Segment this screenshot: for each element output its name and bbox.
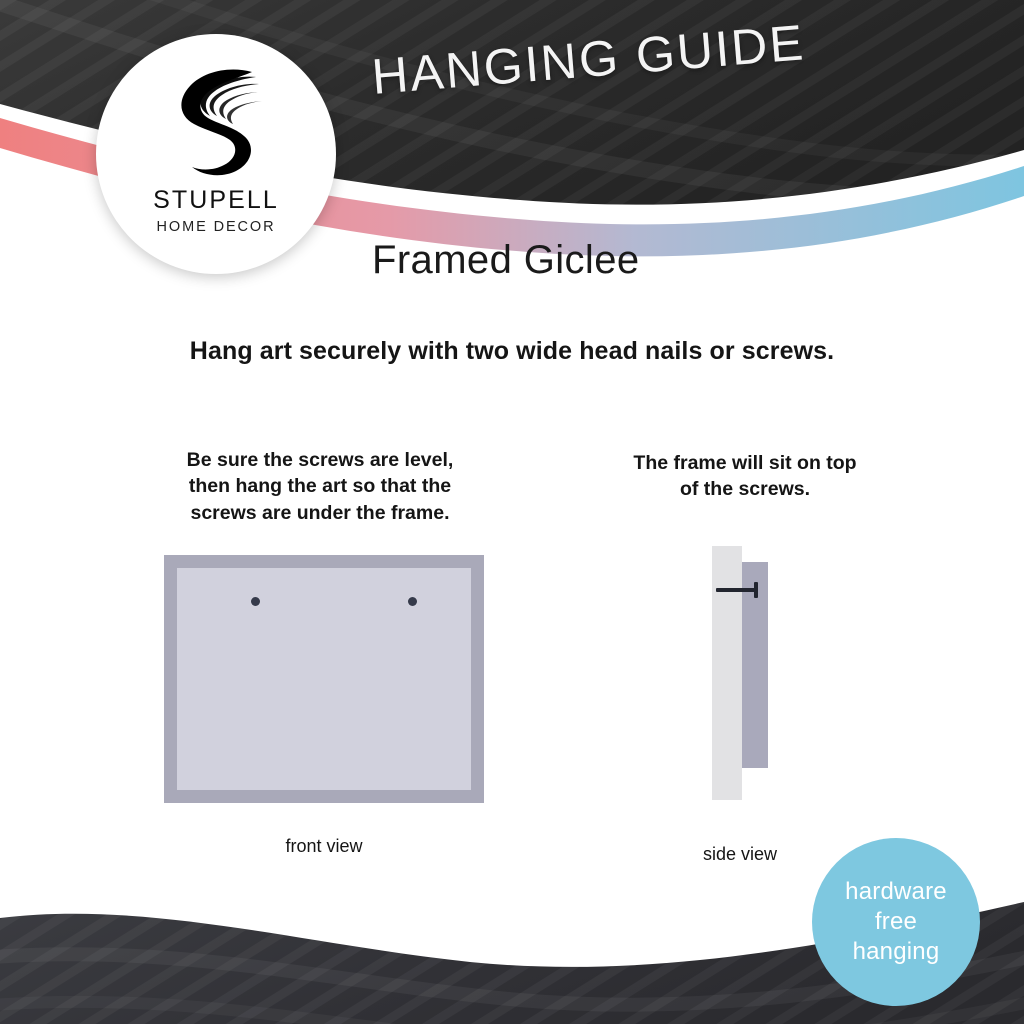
front-view-frame-diagram: [164, 555, 484, 803]
side-view-frame-diagram: [712, 546, 792, 804]
side-view-label: side view: [655, 844, 825, 865]
logo-wordmark: STUPELL: [153, 188, 279, 213]
stupell-swirl-logo-icon: [160, 60, 272, 182]
page-title: HANGING GUIDE: [370, 6, 893, 106]
front-view-mat-panel: [177, 568, 471, 790]
caption-line: of the screws.: [600, 476, 890, 502]
hanging-guide-infographic: STUPELL HOME DECOR HANGING GUIDE Framed …: [0, 0, 1024, 1024]
promo-badge-line: hardware: [845, 877, 947, 907]
screw-dot-left-icon: [251, 597, 260, 606]
lead-instruction-text: Hang art securely with two wide head nai…: [0, 337, 1024, 366]
promo-badge-line: hanging: [853, 937, 940, 967]
hardware-free-hanging-badge: hardware free hanging: [812, 838, 980, 1006]
caption-line: The frame will sit on top: [600, 450, 890, 476]
brand-logo-badge: STUPELL HOME DECOR: [96, 34, 336, 274]
nail-head-icon: [754, 582, 758, 598]
screw-dot-right-icon: [408, 597, 417, 606]
front-view-caption: Be sure the screws are level, then hang …: [160, 447, 480, 526]
front-view-label: front view: [164, 836, 484, 857]
logo-subwordmark: HOME DECOR: [157, 220, 276, 235]
caption-line: Be sure the screws are level,: [160, 447, 480, 473]
caption-line: screws are under the frame.: [160, 500, 480, 526]
promo-badge-line: free: [875, 907, 917, 937]
nail-shaft-icon: [716, 588, 756, 592]
caption-line: then hang the art so that the: [160, 473, 480, 499]
side-view-wall-strip: [712, 546, 742, 800]
side-view-caption: The frame will sit on top of the screws.: [600, 450, 890, 503]
product-type-heading: Framed Giclee: [372, 238, 640, 283]
